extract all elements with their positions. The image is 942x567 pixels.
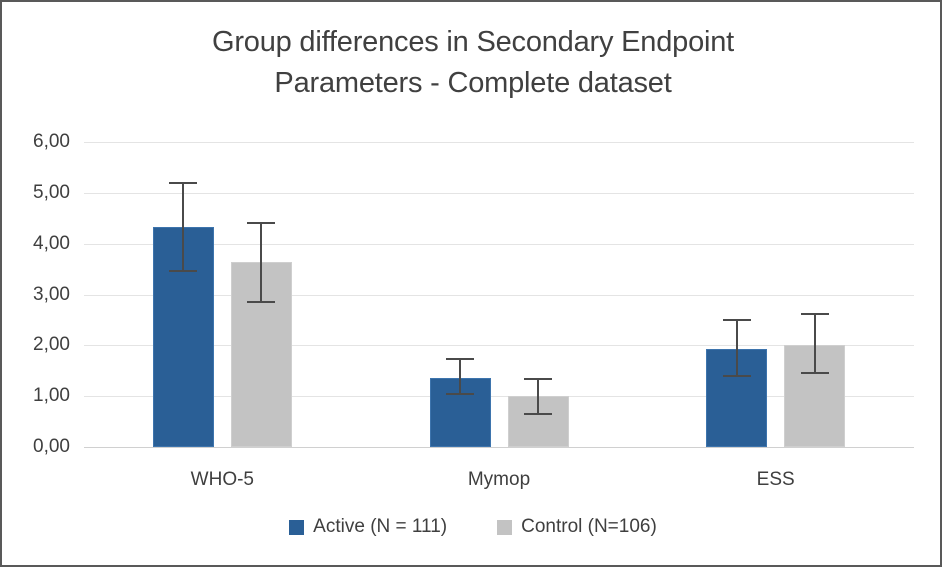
error-bar-who-5-series-2 [260,222,261,303]
error-bar-cap-bottom [801,372,829,374]
y-axis-tick-label: 5,00 [33,182,70,204]
gridline [84,447,914,448]
error-bar-cap-top [723,319,751,321]
legend-label: Active (N = 111) [313,516,447,538]
legend-swatch-icon [289,520,304,535]
x-axis-tick-label-ess: ESS [757,469,795,491]
error-bar-stem [260,222,262,303]
error-bar-mymop-series-1 [459,358,460,395]
legend-swatch-icon [497,520,512,535]
x-axis-tick-label-who-5: WHO-5 [191,469,254,491]
error-bar-cap-top [801,313,829,315]
chart-screenshot: Group differences in Secondary Endpoint … [0,0,942,567]
legend-item-active[interactable]: Active (N = 111) [289,516,447,538]
chart-legend: Active (N = 111)Control (N=106) [2,516,942,538]
error-bar-cap-bottom [524,413,552,415]
error-bar-cap-bottom [723,375,751,377]
error-bar-stem [736,319,738,377]
chart-title-line-2: Parameters - Complete dataset [2,63,942,104]
legend-label: Control (N=106) [521,516,657,538]
error-bar-cap-bottom [247,301,275,303]
error-bar-who-5-series-1 [182,182,183,271]
page-title: Group differences in Secondary Endpoint … [2,22,942,104]
chart-title-line-1: Group differences in Secondary Endpoint [2,22,942,63]
error-bar-stem [459,358,461,395]
error-bar-cap-top [446,358,474,360]
error-bar-ess-series-2 [814,313,815,374]
error-bar-cap-top [169,182,197,184]
plot-area: 6,005,004,003,002,001,000,00 [84,142,914,447]
error-bar-cap-bottom [169,270,197,272]
error-bar-mymop-series-2 [537,378,538,415]
y-axis-tick-label: 1,00 [33,385,70,407]
legend-item-control[interactable]: Control (N=106) [497,516,657,538]
y-axis-tick-label: 4,00 [33,233,70,255]
error-bar-cap-top [247,222,275,224]
y-axis-tick-label: 6,00 [33,131,70,153]
y-axis-tick-label: 3,00 [33,284,70,306]
error-bar-stem [182,182,184,271]
error-bar-cap-bottom [446,393,474,395]
gridline [84,193,914,194]
error-bar-ess-series-1 [736,319,737,377]
y-axis-tick-label: 0,00 [33,436,70,458]
error-bar-stem [537,378,539,415]
x-axis-tick-label-mymop: Mymop [468,469,530,491]
y-axis-tick-label: 2,00 [33,334,70,356]
error-bar-cap-top [524,378,552,380]
error-bar-stem [814,313,816,374]
gridline [84,142,914,143]
